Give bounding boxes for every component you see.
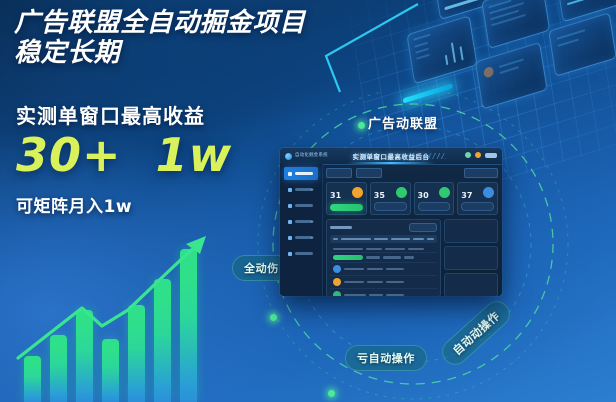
cell [366,248,382,251]
devices-icon [288,236,292,240]
tagline: 可矩阵月入1w [16,192,132,217]
side-card[interactable] [444,219,498,243]
headline-line-1: 广告联盟全自动掘金项目 [14,8,306,38]
trend-arrow [24,232,220,402]
cell [333,248,363,251]
side-card-column [444,219,498,296]
cell [383,256,401,259]
dashboard-header: 自动化掘金系统 实测单窗口最高收益后台 [280,148,502,165]
sidebar-item-accounts[interactable] [284,183,318,196]
accounts-icon [288,188,292,192]
cell [367,281,383,284]
kpi-badge-icon [352,187,363,198]
cell [386,268,404,271]
growth-bar-chart [24,232,220,402]
ring-label-top: 广告动联盟 [368,113,438,132]
accounts-table [326,219,441,296]
column-header [374,238,388,241]
kpi-value: 31 [330,192,341,200]
dashboard-preview[interactable]: 自动化掘金系统 实测单窗口最高收益后台 [280,148,502,296]
gear-icon[interactable] [475,152,481,158]
cell [386,281,404,284]
kpi-value: 37 [461,192,472,200]
status-badge [333,255,363,260]
sidebar-item-console[interactable] [284,167,318,180]
ring-label-bottom: 亏自动操作 [345,345,427,371]
kpi-action-button[interactable] [330,204,363,211]
tab-bar[interactable] [326,168,498,178]
sidebar-item-label [295,252,313,255]
promo-poster: 广告联盟全自动掘金项目 稳定长期 实测单窗口最高收益 30+ 1w 可矩阵月入1… [0,0,616,402]
ring-node-top [358,122,365,129]
cell [386,294,404,296]
settings-icon [288,252,292,256]
kpi-card[interactable]: 30 [414,182,455,215]
ring-node-left [270,314,277,321]
sidebar-item-revenue[interactable] [284,215,318,228]
ring-node-bottom [328,390,335,397]
table-row[interactable] [330,245,437,254]
headline-line-2: 稳定长期 [14,38,414,68]
kpi-badge-icon [396,187,407,198]
side-card[interactable] [444,273,498,296]
kpi-action-button[interactable] [418,202,451,211]
cell [369,294,383,296]
sidebar-item-settings[interactable] [284,247,318,260]
column-header [341,238,371,241]
table-row[interactable] [330,289,437,296]
table-row[interactable] [330,276,437,289]
table-column-headers [330,235,437,243]
cell [344,294,366,296]
start-all-button[interactable] [464,168,498,178]
tasks-icon [288,204,292,208]
chevron-down-icon [310,221,314,223]
shuffle-icon[interactable] [465,152,471,158]
table-row[interactable] [330,263,437,276]
revenue-icon [288,220,292,224]
column-header [391,238,410,241]
page-title: 广告联盟全自动掘金项目 稳定长期 [14,8,414,68]
hatch-decor-right [426,153,446,159]
dashboard-sidebar[interactable] [280,164,323,296]
app-logo-icon [285,153,292,160]
chevron-down-icon [310,237,314,239]
content-row [326,219,498,296]
dashboard-title: 实测单窗口最高收益后台 [353,152,430,161]
avatar [333,278,341,286]
cell [367,268,383,271]
avatar [333,291,341,296]
cell [344,281,364,284]
column-header [427,238,434,241]
cell [385,248,405,251]
console-icon [288,172,292,176]
cell [408,248,424,251]
sidebar-item-label [295,172,313,175]
table-header-bar [330,223,437,232]
tab-batch[interactable] [356,168,382,178]
kpi-action-button[interactable] [461,202,494,211]
kpi-value: 35 [374,192,385,200]
subtitle: 实测单窗口最高收益 [16,100,205,129]
column-header [333,238,338,241]
table-title [330,226,352,229]
tab-accounts[interactable] [326,168,352,178]
highlight-number: 30+ 1w [16,131,232,179]
sidebar-item-tasks[interactable] [284,199,318,212]
kpi-action-button[interactable] [374,202,407,211]
kpi-value: 30 [418,192,429,200]
header-icons[interactable] [465,152,497,158]
cell [344,268,364,271]
sidebar-item-devices[interactable] [284,231,318,244]
sidebar-item-label [295,204,313,207]
chevron-down-icon [310,189,314,191]
cell [404,256,414,259]
kpi-card[interactable]: 35 [370,182,411,215]
avatar[interactable] [485,153,497,158]
kpi-badge-icon [483,187,494,198]
table-action-button[interactable] [409,223,437,232]
column-header [413,238,424,241]
app-logo-text: 自动化掘金系统 [295,152,328,158]
kpi-card[interactable]: 31 [326,182,367,215]
kpi-card[interactable]: 37 [457,182,498,215]
kpi-card-row: 31 35 30 37 [326,182,498,215]
kpi-badge-icon [439,187,450,198]
table-row[interactable] [330,253,437,263]
cell [366,256,380,259]
avatar [333,265,341,273]
side-card[interactable] [444,246,498,270]
dashboard-main: 31 35 30 37 [322,164,502,296]
